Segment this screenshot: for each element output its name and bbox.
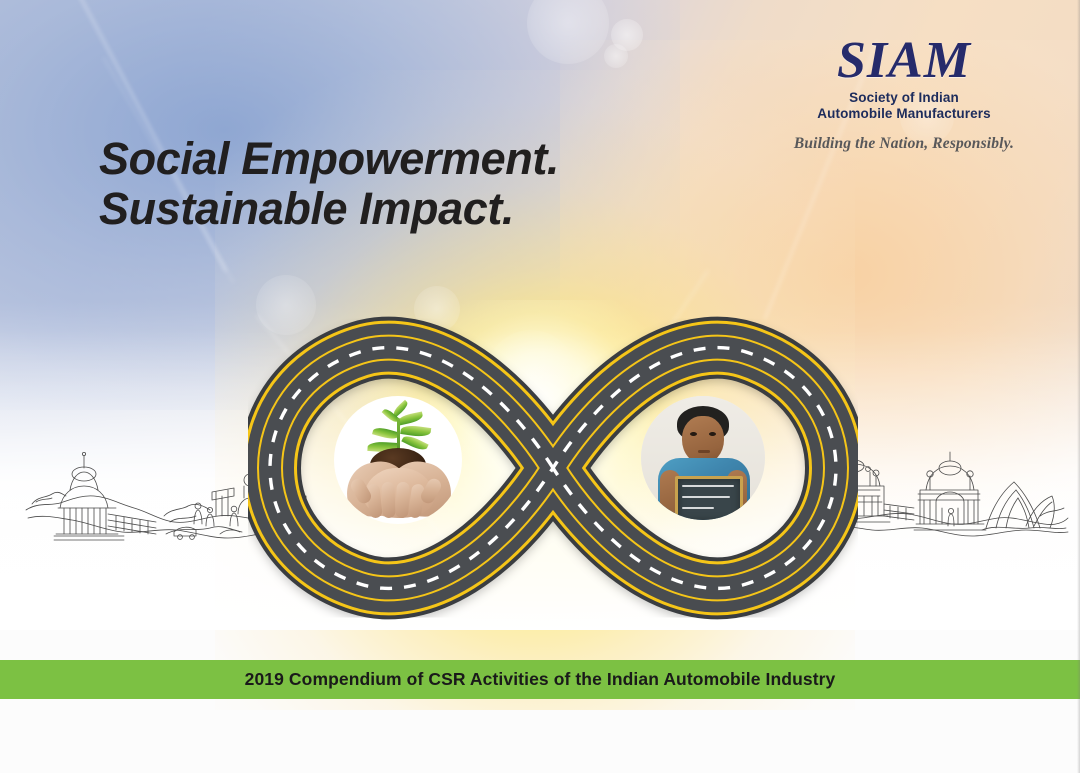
siam-tagline: Building the Nation, Responsibly. [774,135,1034,153]
headline-line-1: Social Empowerment. [99,134,559,184]
headline-line-2: Sustainable Impact. [99,184,559,234]
siam-name-line-2: Automobile Manufacturers [774,106,1034,122]
cover-headline: Social Empowerment. Sustainable Impact. [99,134,559,234]
siam-name-line-1: Society of Indian [774,90,1034,106]
banner-title-text: 2019 Compendium of CSR Activities of the… [245,669,836,690]
report-cover-page: SIAM Society of Indian Automobile Manufa… [0,0,1080,773]
infinity-road-emblem [248,312,858,624]
bottom-title-banner: 2019 Compendium of CSR Activities of the… [0,660,1080,699]
siam-acronym: SIAM [774,36,1034,87]
road-layers [270,348,836,589]
lens-flare-icon [604,44,628,68]
siam-logo: SIAM Society of Indian Automobile Manufa… [774,36,1034,153]
